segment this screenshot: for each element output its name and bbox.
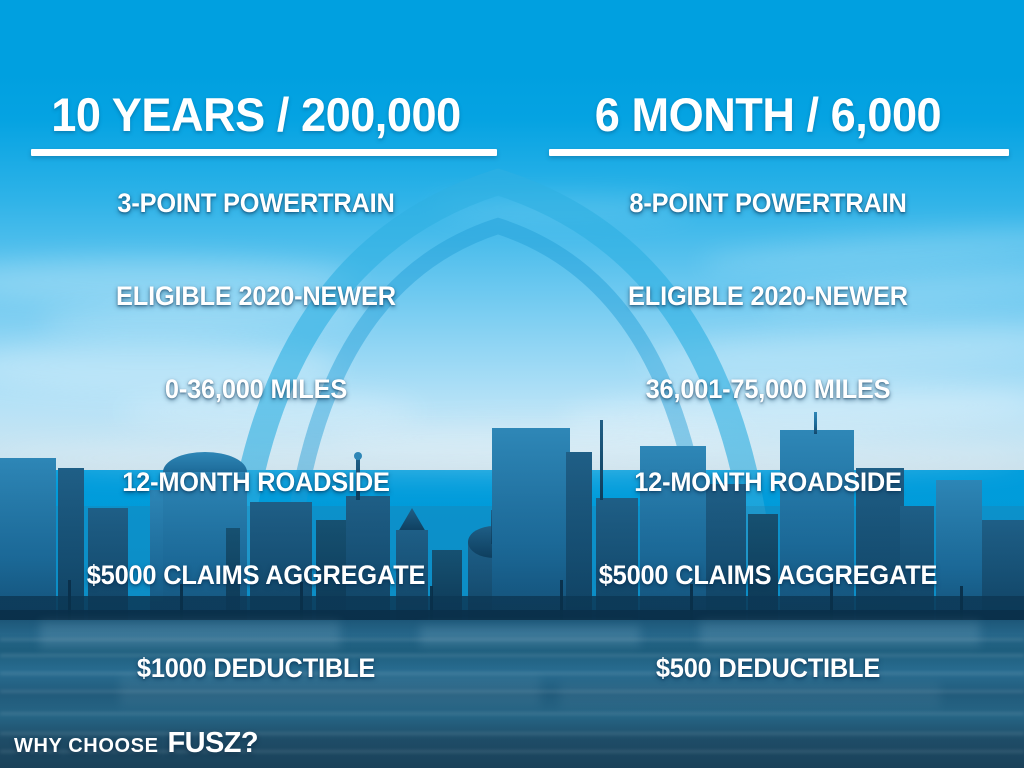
comparison-row: 0-36,000 MILES 36,001-75,000 MILES [0,372,1024,465]
cell-right: $5000 CLAIMS AGGREGATE [527,558,1008,592]
cell-left: 3-POINT POWERTRAIN [15,186,496,220]
cell-left: ELIGIBLE 2020-NEWER [15,279,496,313]
cell-left: 12-MONTH ROADSIDE [15,465,496,499]
slide-content: 10 YEARS / 200,000 6 MONTH / 6,000 3-POI… [0,0,1024,768]
comparison-row: 3-POINT POWERTRAIN 8-POINT POWERTRAIN [0,186,1024,279]
brand-prefix: WHY CHOOSE [14,735,159,758]
cell-right: 8-POINT POWERTRAIN [527,186,1008,220]
heading-left-rule [31,149,497,156]
cell-left: $1000 DEDUCTIBLE [15,651,496,685]
column-headings: 10 YEARS / 200,000 6 MONTH / 6,000 [0,88,1024,156]
column-heading-left: 10 YEARS / 200,000 [0,88,512,156]
heading-right-rule [549,149,1009,156]
heading-right-text: 6 MONTH / 6,000 [536,88,1001,142]
cell-left: 0-36,000 MILES [15,372,496,406]
comparison-row: ELIGIBLE 2020-NEWER ELIGIBLE 2020-NEWER [0,279,1024,372]
brand-lockup: WHY CHOOSE FUSZ? [14,727,258,760]
brand-name: FUSZ? [168,727,258,760]
cell-right: ELIGIBLE 2020-NEWER [527,279,1008,313]
comparison-row: $5000 CLAIMS AGGREGATE $5000 CLAIMS AGGR… [0,558,1024,651]
cell-right: $500 DEDUCTIBLE [527,651,1008,685]
comparison-row: 12-MONTH ROADSIDE 12-MONTH ROADSIDE [0,465,1024,558]
heading-left-text: 10 YEARS / 200,000 [24,88,489,142]
cell-left: $5000 CLAIMS AGGREGATE [15,558,496,592]
comparison-rows: 3-POINT POWERTRAIN 8-POINT POWERTRAIN EL… [0,186,1024,744]
slide-canvas: 10 YEARS / 200,000 6 MONTH / 6,000 3-POI… [0,0,1024,768]
cell-right: 12-MONTH ROADSIDE [527,465,1008,499]
cell-right: 36,001-75,000 MILES [527,372,1008,406]
column-heading-right: 6 MONTH / 6,000 [512,88,1024,156]
